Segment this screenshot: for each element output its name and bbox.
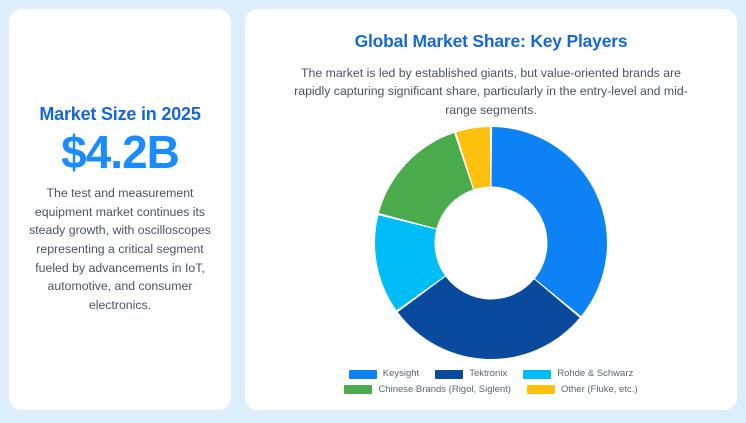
market-size-card: Market Size in 2025 $4.2B The test and m… [8,8,232,411]
legend-label: Keysight [383,369,419,379]
legend-item[interactable]: Rohde & Schwarz [523,369,633,379]
chart-legend: KeysightTektronixRohde & SchwarzChinese … [326,369,656,394]
legend-swatch-icon [435,370,463,379]
dashboard-page: Market Size in 2025 $4.2B The test and m… [0,0,746,423]
legend-item[interactable]: Tektronix [435,369,507,379]
legend-label: Rohde & Schwarz [557,369,633,379]
legend-item[interactable]: Chinese Brands (Rigol, Siglent) [344,385,511,395]
legend-item[interactable]: Other (Fluke, etc.) [527,385,638,395]
legend-swatch-icon [523,370,551,379]
legend-label: Chinese Brands (Rigol, Siglent) [378,385,511,395]
legend-swatch-icon [527,385,555,394]
donut-slice[interactable] [492,127,607,316]
market-share-title: Global Market Share: Key Players [355,31,628,52]
market-size-description: The test and measurement equipment marke… [28,184,213,315]
market-size-title: Market Size in 2025 [39,104,200,126]
market-share-description: The market is led by established giants,… [282,64,700,119]
donut-chart-svg [373,125,609,361]
donut-slice[interactable] [379,133,473,228]
market-size-value: $4.2B [61,128,179,176]
donut-chart [373,125,609,361]
legend-swatch-icon [349,370,377,379]
legend-item[interactable]: Keysight [349,369,419,379]
market-share-card: Global Market Share: Key Players The mar… [244,8,738,411]
legend-label: Other (Fluke, etc.) [561,385,638,395]
legend-swatch-icon [344,385,372,394]
donut-slice-group [375,127,607,359]
legend-label: Tektronix [469,369,507,379]
